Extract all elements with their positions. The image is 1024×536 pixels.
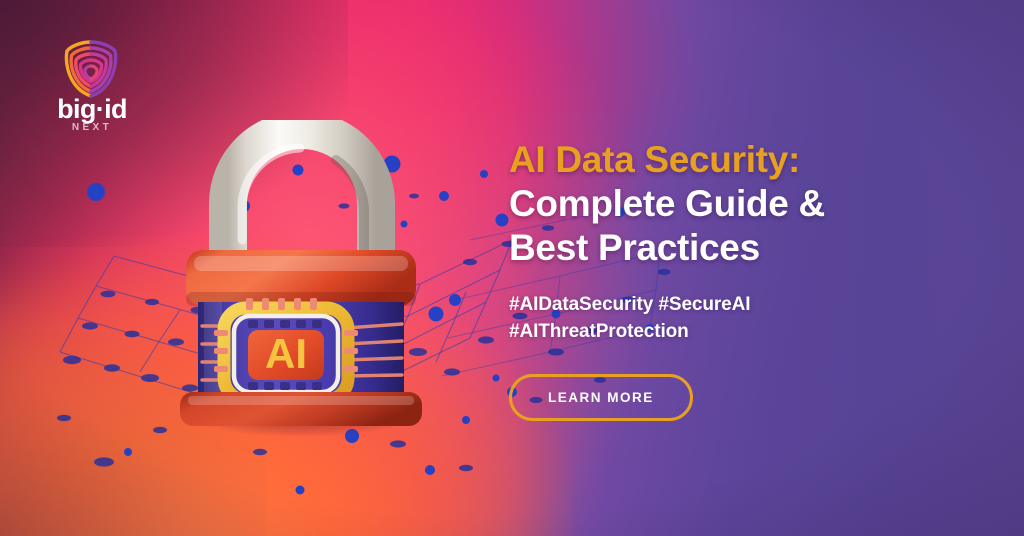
headline-accent: AI Data Security (509, 139, 788, 180)
headline-colon: : (788, 139, 800, 180)
brand-logo[interactable]: big·id NEXT (38, 38, 146, 142)
headline-line-2: Complete Guide & (509, 183, 825, 224)
hashtags-line-2: #AIThreatProtection (509, 321, 689, 342)
chip-label: AI (265, 330, 307, 377)
headline-line-3: Best Practices (509, 227, 760, 268)
learn-more-button[interactable]: LEARN MORE (509, 374, 693, 421)
banner-content: AI Data Security: Complete Guide & Best … (509, 138, 979, 421)
logo-subtext: NEXT (38, 123, 146, 133)
hashtags-line-1: #AIDataSecurity #SecureAI (509, 294, 750, 315)
page-title: AI Data Security: Complete Guide & Best … (509, 138, 979, 270)
hashtag-block: #AIDataSecurity #SecureAI #AIThreatProte… (509, 292, 979, 346)
ai-padlock-illustration: AI (150, 120, 450, 440)
fingerprint-shield-icon (58, 38, 124, 98)
marketing-banner: big·id NEXT (0, 0, 1024, 536)
logo-wordmark: big·id (38, 96, 146, 123)
